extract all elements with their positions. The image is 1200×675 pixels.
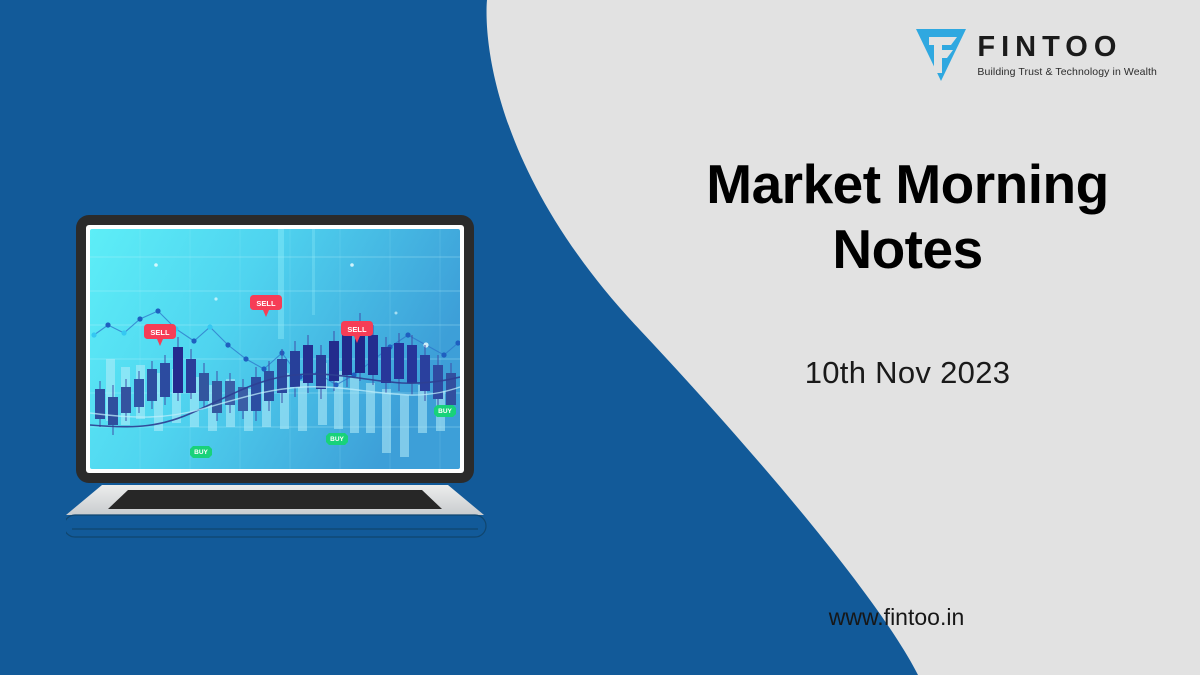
content-column: FINTOO Building Trust & Technology in We… <box>640 0 1185 675</box>
laptop-screen: SELL SELL SELL BUY <box>90 229 461 469</box>
page-title: Market Morning Notes <box>640 152 1175 282</box>
marker-buy-label: BUY <box>194 449 208 456</box>
marker-buy-label: BUY <box>438 408 452 415</box>
page-title-line-1: Market Morning <box>640 152 1175 217</box>
laptop-illustration: SELL SELL SELL BUY <box>66 213 666 573</box>
fintoo-tagline: Building Trust & Technology in Wealth <box>977 67 1157 78</box>
marker-sell-label: SELL <box>347 325 367 334</box>
website-url[interactable]: www.fintoo.in <box>640 604 1153 631</box>
fintoo-logo[interactable]: FINTOO Building Trust & Technology in We… <box>915 28 1157 82</box>
fintoo-triangle-f-icon <box>915 28 967 82</box>
marker-buy-label: BUY <box>330 436 344 443</box>
marker-buy-3[interactable]: BUY <box>434 405 456 417</box>
page-title-line-2: Notes <box>640 217 1175 282</box>
marker-sell-label: SELL <box>150 328 170 337</box>
marker-sell-label: SELL <box>256 299 276 308</box>
marker-buy-1[interactable]: BUY <box>190 446 212 458</box>
laptop-keyboard <box>108 490 442 509</box>
market-morning-notes-banner: SELL SELL SELL BUY <box>0 0 1200 675</box>
laptop-front-edge <box>66 515 486 537</box>
marker-buy-2[interactable]: BUY <box>326 433 348 445</box>
fintoo-wordmark-block: FINTOO Building Trust & Technology in We… <box>977 33 1157 78</box>
fintoo-wordmark: FINTOO <box>977 33 1122 62</box>
publish-date: 10th Nov 2023 <box>640 355 1175 391</box>
